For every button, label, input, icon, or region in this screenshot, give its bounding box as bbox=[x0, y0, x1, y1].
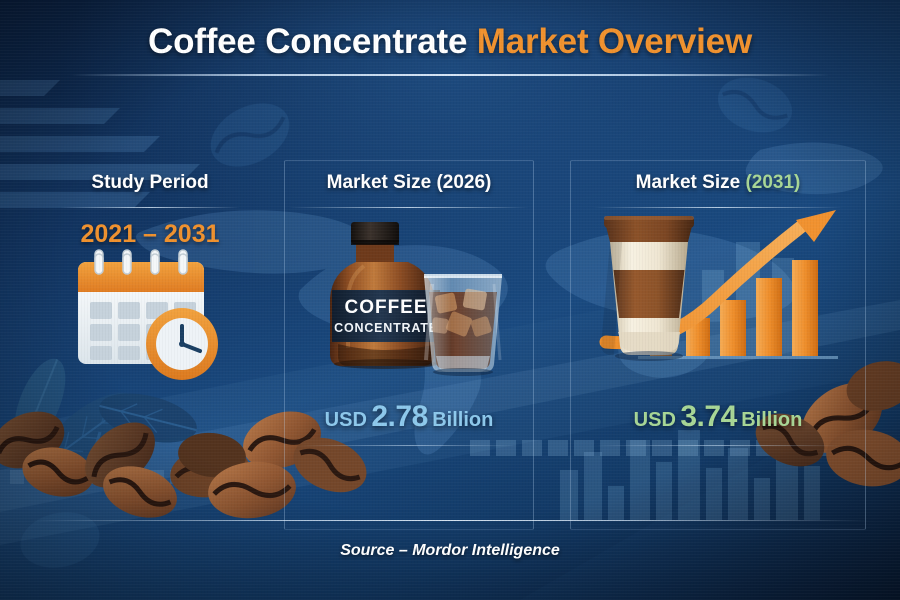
value-number-2031: 3.74 bbox=[680, 400, 736, 433]
footer-divider bbox=[30, 520, 870, 521]
infographic-canvas: Coffee Concentrate Market Overview Study… bbox=[0, 0, 900, 600]
panel-market-2031-heading-main: Market Size bbox=[636, 172, 746, 193]
value-unit-2026: USD bbox=[325, 409, 367, 431]
value-denomination-2026: Billion bbox=[432, 409, 493, 431]
title-part-accent: Market Overview bbox=[477, 22, 752, 61]
bottle-label-line2: CONCENTRATE bbox=[334, 321, 438, 335]
panel-market-2031-heading: Market Size (2031) bbox=[570, 172, 866, 194]
panel-study-period-heading: Study Period bbox=[34, 172, 266, 194]
value-denomination-2031: Billion bbox=[741, 409, 802, 431]
panel-market-2031-heading-year: (2031) bbox=[745, 172, 800, 193]
bottle: COFFEE CONCENTRATE bbox=[330, 222, 440, 369]
title-part-primary: Coffee Concentrate bbox=[148, 22, 467, 61]
takeaway-coffee-cup bbox=[601, 216, 694, 361]
value-unit-2031: USD bbox=[634, 409, 676, 431]
panel-study-period-underline bbox=[60, 207, 240, 208]
market-2026-value-underline bbox=[299, 445, 519, 446]
panel-market-size-2031: Market Size (2031) bbox=[570, 160, 866, 530]
coffee-concentrate-bottle-icon: COFFEE CONCENTRATE bbox=[294, 218, 524, 393]
stats-panels: Study Period 2021 – 2031 bbox=[0, 160, 900, 530]
panel-market-2026-heading: Market Size (2026) bbox=[284, 172, 534, 194]
market-size-2026-value: USD 2.78 Billion bbox=[284, 400, 534, 434]
iced-coffee-glass bbox=[424, 276, 502, 376]
panel-market-size-2026: Market Size (2026) bbox=[284, 160, 534, 530]
market-2031-value-underline bbox=[593, 445, 843, 446]
title-block: Coffee Concentrate Market Overview bbox=[0, 22, 900, 62]
market-size-2031-value: USD 3.74 Billion bbox=[570, 400, 866, 434]
value-number-2026: 2.78 bbox=[371, 400, 427, 433]
coffee-cup-growth-chart-icon bbox=[590, 196, 860, 391]
bottle-label-line1: COFFEE bbox=[344, 297, 427, 318]
panel-study-period: Study Period 2021 – 2031 bbox=[34, 160, 266, 530]
calendar-clock-icon bbox=[70, 248, 230, 393]
page-title: Coffee Concentrate Market Overview bbox=[0, 22, 900, 62]
source-attribution: Source – Mordor Intelligence bbox=[0, 542, 900, 560]
panel-market-2026-underline bbox=[289, 207, 529, 208]
study-period-value: 2021 – 2031 bbox=[34, 220, 266, 249]
title-underline bbox=[70, 74, 830, 76]
